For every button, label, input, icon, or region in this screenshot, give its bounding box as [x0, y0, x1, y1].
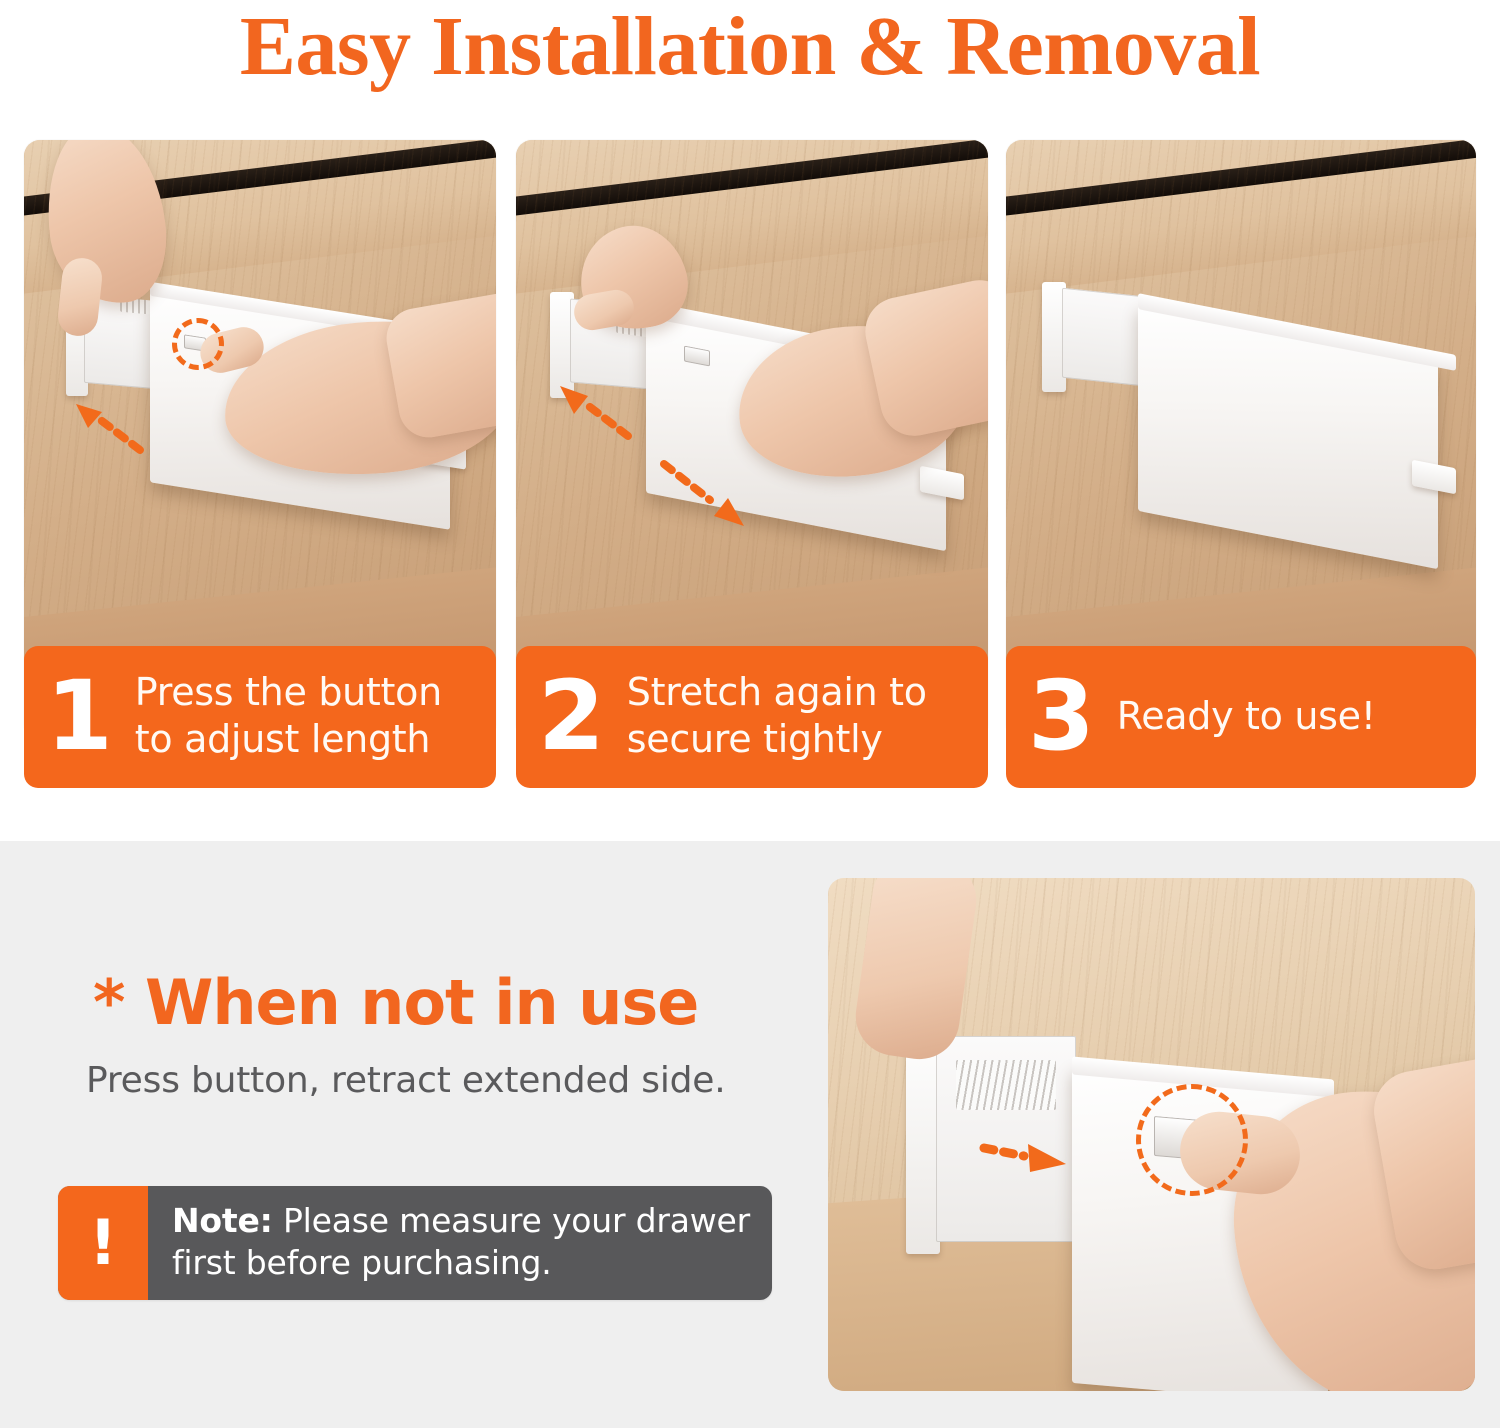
when-not-in-use-title: * When not in use	[93, 969, 698, 1037]
step-2-label: Stretch again to secure tightly	[627, 669, 927, 763]
note-text: Note: Please measure your drawer first b…	[148, 1186, 772, 1300]
divider-ratchet-teeth	[956, 1060, 1056, 1110]
step-2-line-1: Stretch again to	[627, 670, 927, 714]
note-label: Note:	[172, 1201, 273, 1240]
step-3-label: Ready to use!	[1117, 693, 1376, 740]
step-2-caption: 2 Stretch again to secure tightly	[516, 646, 988, 788]
when-not-in-use-section: * When not in use Press button, retract …	[0, 841, 1500, 1428]
step-3-number: 3	[1028, 668, 1095, 764]
exclamation-mark-icon: !	[58, 1186, 148, 1300]
step-3-caption: 3 Ready to use!	[1006, 646, 1476, 788]
steps-row: 1 Press the button to adjust length	[0, 140, 1500, 800]
step-1-line-1: Press the button	[135, 670, 442, 714]
step-1-label: Press the button to adjust length	[135, 669, 442, 763]
dashed-arrow-right-icon	[978, 1130, 1070, 1178]
note-badge: ! Note: Please measure your drawer first…	[58, 1186, 772, 1300]
step-1-number: 1	[46, 668, 113, 764]
dashed-circle-button-icon	[172, 318, 224, 370]
step-card-3: 3 Ready to use!	[1006, 140, 1476, 788]
dashed-circle-button-icon	[1136, 1084, 1248, 1196]
dashed-arrow-down-right-icon	[658, 458, 748, 530]
step-card-2: 2 Stretch again to secure tightly	[516, 140, 988, 788]
installation-section: Easy Installation & Removal	[0, 0, 1500, 841]
step-2-line-2: secure tightly	[627, 717, 883, 761]
product-infographic: Easy Installation & Removal	[0, 0, 1500, 1428]
divider-extension-rail	[1062, 288, 1144, 387]
step-card-1: 1 Press the button to adjust length	[24, 140, 496, 788]
dashed-arrow-up-left-icon	[556, 384, 634, 444]
when-not-in-use-text-block: * When not in use Press button, retract …	[0, 841, 800, 1428]
retract-photo	[828, 878, 1475, 1391]
step-2-number: 2	[538, 668, 605, 764]
step-1-caption: 1 Press the button to adjust length	[24, 646, 496, 788]
page-title: Easy Installation & Removal	[0, 2, 1500, 92]
when-not-in-use-subtitle: Press button, retract extended side.	[86, 1059, 726, 1103]
step-1-line-2: to adjust length	[135, 717, 430, 761]
dashed-arrow-left-icon	[72, 402, 144, 458]
